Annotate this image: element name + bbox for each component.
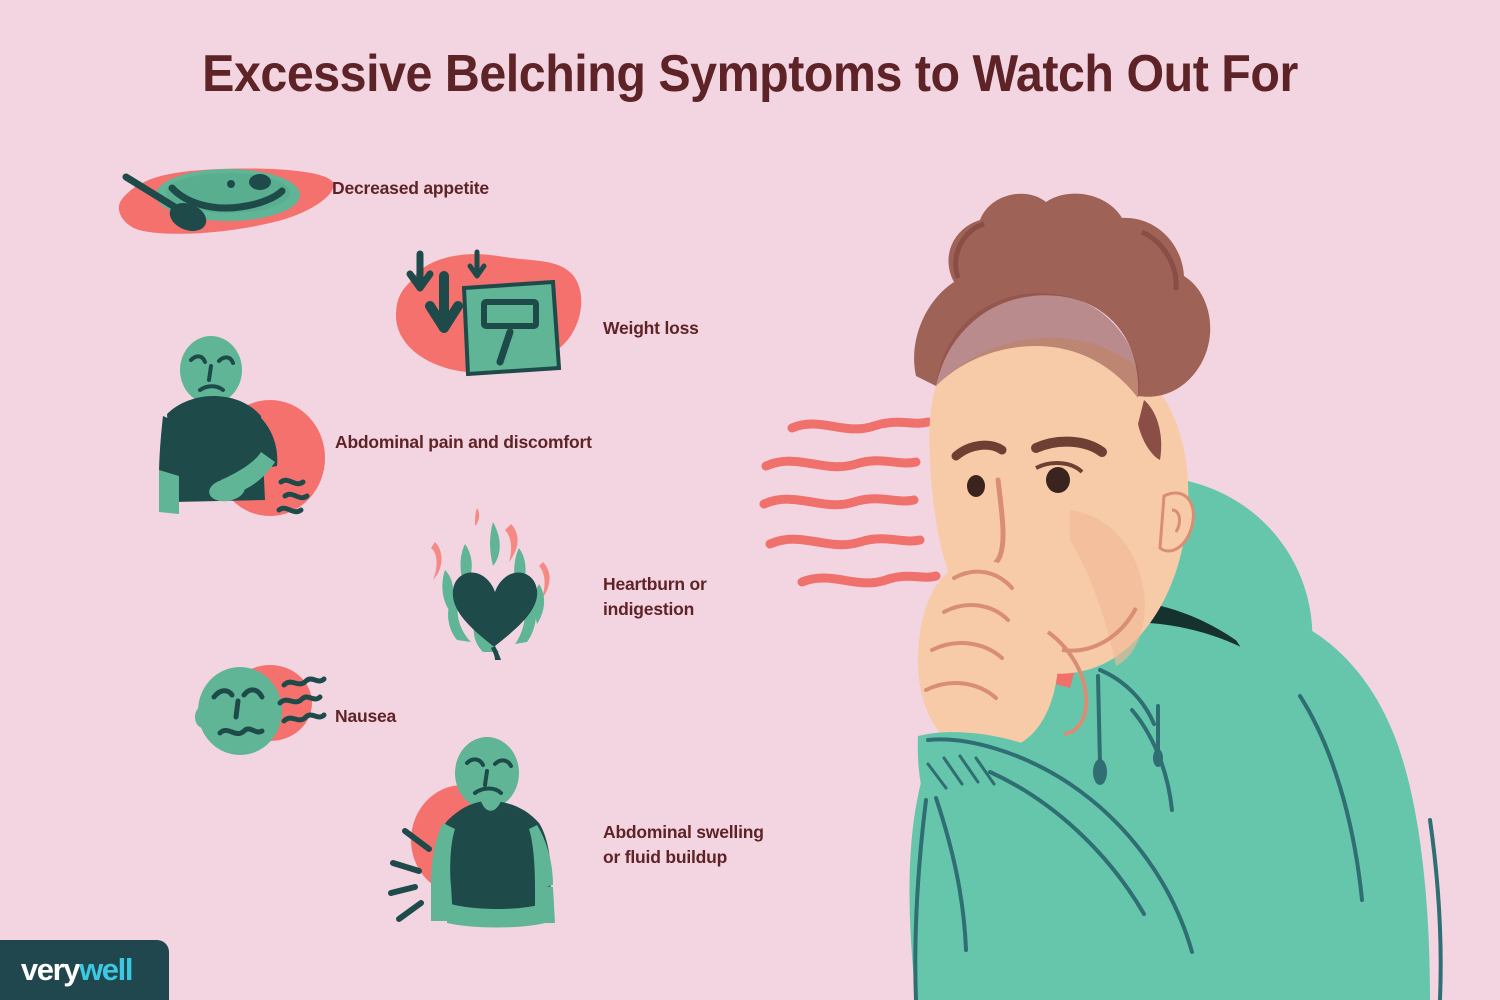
infographic-canvas: Excessive Belching Symptoms to Watch Out… <box>0 0 1500 1000</box>
man-covering-mouth-belching-illustration <box>740 180 1500 1000</box>
symptom-label-heartburn: Heartburn or indigestion <box>603 572 707 622</box>
logo-text-very: very <box>21 952 79 987</box>
symptom-label-nausea: Nausea <box>335 704 396 729</box>
symptom-label-weight-loss: Weight loss <box>603 316 699 341</box>
person-holding-stomach-icon <box>145 330 345 535</box>
bathroom-scale-down-arrows-icon <box>380 240 600 390</box>
plate-with-spoon-icon <box>100 155 345 255</box>
belch-wave-lines <box>764 422 936 583</box>
page-title: Excessive Belching Symptoms to Watch Out… <box>53 44 1448 104</box>
verywell-logo[interactable]: verywell <box>0 940 169 1000</box>
logo-text-well: well <box>79 952 132 987</box>
flaming-heart-icon <box>415 500 575 660</box>
symptom-label-decreased-appetite: Decreased appetite <box>332 176 489 201</box>
symptom-label-abdominal-pain: Abdominal pain and discomfort <box>335 430 592 455</box>
nauseated-face-icon <box>188 655 343 765</box>
bloated-person-icon <box>385 735 600 940</box>
